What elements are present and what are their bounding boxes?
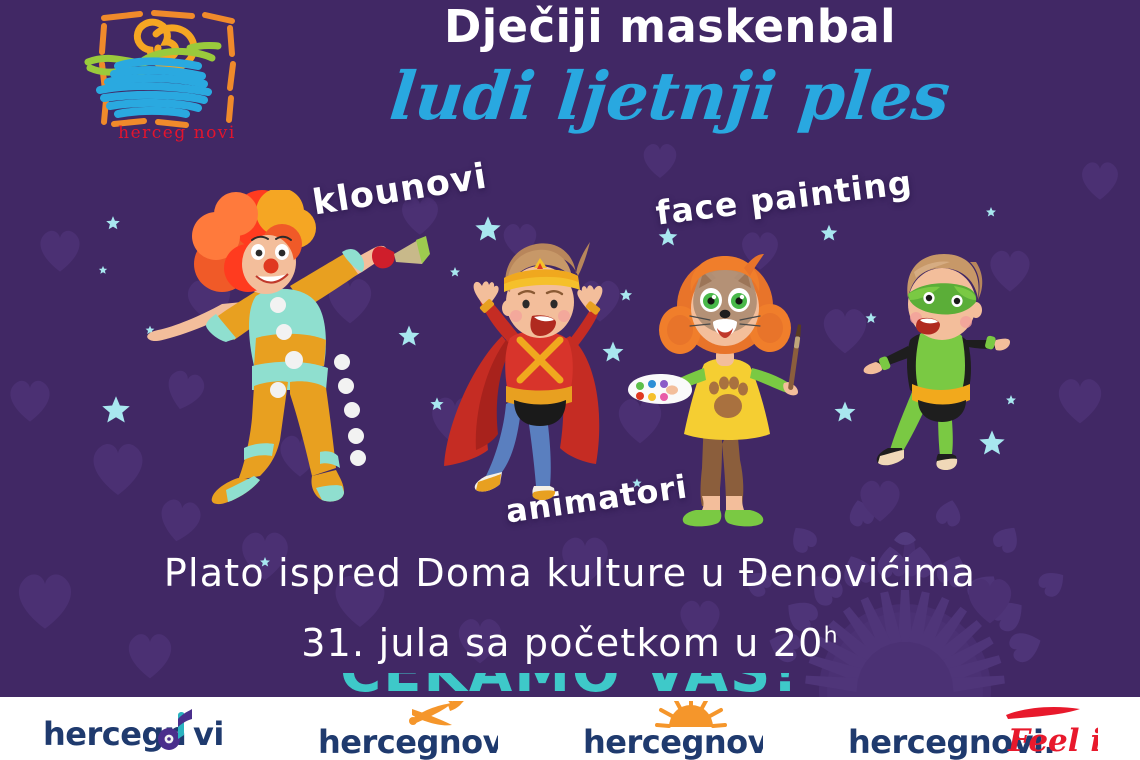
sponsor-gastro-text: hercegnovi <box>318 723 498 760</box>
event-datetime: 31. jula sa početkom u 20h <box>0 621 1140 665</box>
character-green-superhero <box>858 242 1040 496</box>
logo-wordmark: herceg novi <box>118 123 236 143</box>
sponsor-hercegnovi-sun[interactable]: hercegnovi <box>583 701 763 760</box>
character-face-painted-girl <box>618 248 840 530</box>
sponsor-hercegnovi-music[interactable]: hercegn vi <box>43 701 233 760</box>
page-title: Dječiji maskenbal <box>330 3 1010 51</box>
sponsor-music-text-tail: vi <box>193 715 224 753</box>
character-clown <box>130 190 430 510</box>
teal-banner-text: ČEKAMO VAS! <box>0 673 1140 697</box>
sponsor-sun-text: hercegnovi <box>583 723 763 760</box>
character-prince-animator <box>440 228 640 510</box>
teal-banner: ČEKAMO VAS! <box>0 673 1140 697</box>
sponsor-feelit-accent: Feel it. <box>1007 723 1098 759</box>
event-location: Plato ispred Doma kulture u Đenovićima <box>0 551 1140 595</box>
herceg-novi-logo: herceg novi <box>82 4 272 144</box>
event-date-text: 31. jula sa početkom u 20 <box>301 621 823 665</box>
event-time-suffix: h <box>824 623 839 648</box>
poster-stage: herceg novi Dječiji maskenbal ludi ljetn… <box>0 0 1140 697</box>
poster-root: herceg novi Dječiji maskenbal ludi ljetn… <box>0 0 1140 760</box>
sponsor-hercegnovi-gastro[interactable]: hercegnovi <box>318 701 498 760</box>
page-subtitle: ludi ljetnji ples <box>326 60 1014 133</box>
sponsor-hercegnovi-feel-it[interactable]: hercegnovi. Feel it. <box>848 701 1098 760</box>
sponsor-footer: hercegn vi <box>0 697 1140 760</box>
fork-spoon-icon <box>409 701 464 725</box>
script-wordmark-icon: Feel it. <box>1006 707 1098 759</box>
